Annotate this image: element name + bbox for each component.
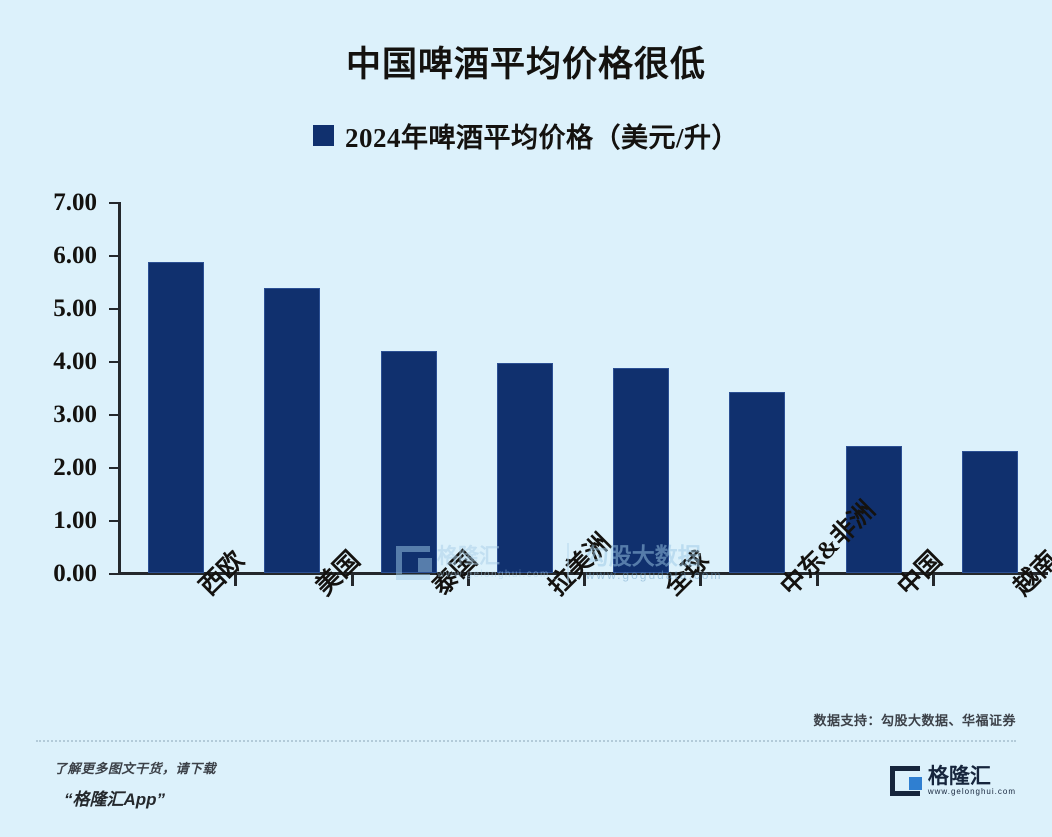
x-axis-label: 中国 bbox=[888, 577, 913, 602]
y-axis-tick: 7.00 bbox=[109, 202, 118, 204]
y-axis-tick: 4.00 bbox=[109, 361, 118, 363]
bar[interactable] bbox=[148, 262, 204, 573]
x-axis-label: 越南 bbox=[1004, 577, 1029, 602]
y-axis-tick: 6.00 bbox=[109, 255, 118, 257]
legend-swatch-icon bbox=[313, 125, 334, 146]
footer-logo-name: 格隆汇 bbox=[928, 765, 1016, 788]
bar[interactable] bbox=[264, 288, 320, 573]
y-axis-tick: 3.00 bbox=[109, 414, 118, 416]
y-axis-tick-label: 1.00 bbox=[53, 507, 97, 535]
x-axis-label: 拉美洲 bbox=[539, 577, 564, 602]
y-axis-tick: 0.00 bbox=[109, 573, 118, 575]
chart-legend: 2024年啤酒平均价格（美元/升） bbox=[0, 116, 1052, 155]
x-axis-label: 美国 bbox=[306, 577, 331, 602]
bar[interactable] bbox=[613, 368, 669, 573]
footer-promo: 了解更多图文干货，请下载 “格隆汇App” bbox=[54, 758, 216, 810]
x-axis-labels: 西欧美国泰国拉美洲全球中东&非洲中国越南 bbox=[118, 577, 1048, 687]
footer-divider bbox=[36, 740, 1016, 742]
bars-layer bbox=[118, 202, 1048, 573]
y-axis-tick-label: 0.00 bbox=[53, 560, 97, 588]
y-axis-tick-label: 3.00 bbox=[53, 401, 97, 429]
x-axis-label: 泰国 bbox=[423, 577, 448, 602]
x-axis-label: 西欧 bbox=[190, 577, 215, 602]
source-note: 数据支持：勾股大数据、华福证券 bbox=[813, 710, 1016, 729]
footer-logo: 格隆汇 www.gelonghui.com bbox=[890, 765, 1016, 797]
y-axis-tick-label: 7.00 bbox=[53, 189, 97, 217]
gelonghui-logo-icon bbox=[890, 766, 920, 796]
footer-promo-line1: 了解更多图文干货，请下载 bbox=[54, 758, 216, 777]
bar[interactable] bbox=[381, 351, 437, 573]
legend-label: 2024年啤酒平均价格（美元/升） bbox=[345, 116, 739, 155]
y-axis-tick: 1.00 bbox=[109, 520, 118, 522]
y-axis-tick: 5.00 bbox=[109, 308, 118, 310]
page-title: 中国啤酒平均价格很低 bbox=[0, 36, 1052, 87]
bar[interactable] bbox=[729, 392, 785, 573]
chart-page: 中国啤酒平均价格很低 2024年啤酒平均价格（美元/升） 0.001.002.0… bbox=[0, 0, 1052, 837]
y-axis-tick-label: 2.00 bbox=[53, 454, 97, 482]
plot-area: 0.001.002.003.004.005.006.007.00 bbox=[118, 202, 1048, 573]
footer-promo-line2: “格隆汇App” bbox=[64, 785, 216, 810]
y-axis-tick-label: 6.00 bbox=[53, 242, 97, 270]
x-axis-label: 全球 bbox=[655, 577, 680, 602]
y-axis-tick-label: 5.00 bbox=[53, 295, 97, 323]
y-axis-tick-label: 4.00 bbox=[53, 348, 97, 376]
bar[interactable] bbox=[497, 363, 553, 573]
footer-logo-url: www.gelonghui.com bbox=[928, 788, 1016, 797]
y-axis-tick: 2.00 bbox=[109, 467, 118, 469]
bar[interactable] bbox=[962, 451, 1018, 573]
x-axis-label: 中东&非洲 bbox=[771, 577, 796, 602]
